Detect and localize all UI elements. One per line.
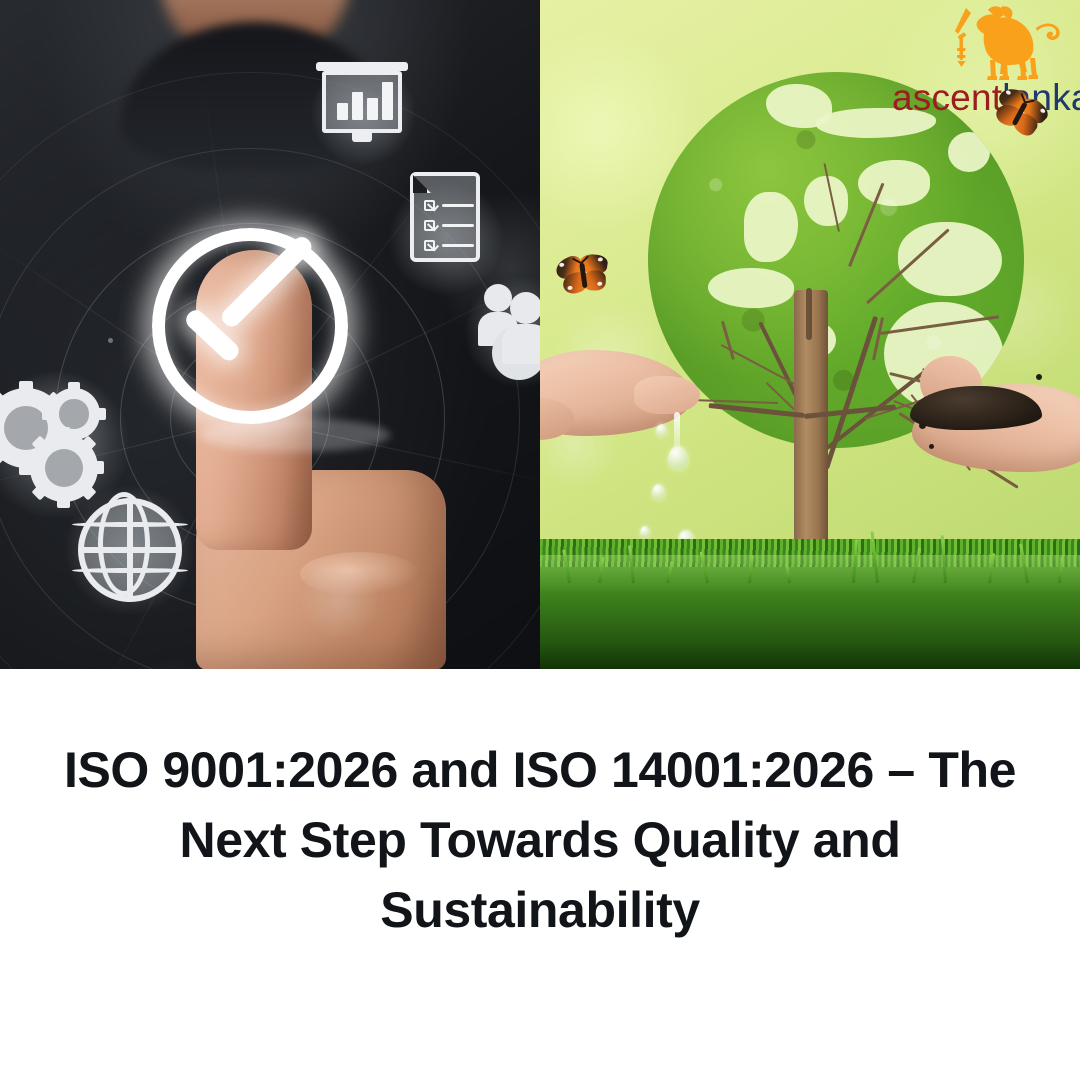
hero-image-pair: ascentlanka <box>0 0 1080 669</box>
globe-icon <box>78 498 182 602</box>
quality-approval-image <box>0 0 540 669</box>
watering-hand <box>540 334 714 460</box>
grass-strip <box>540 551 1080 669</box>
page-title: ISO 9001:2026 and ISO 14001:2026 – TheNe… <box>17 735 1063 945</box>
page-title-line: ISO 9001:2026 and ISO 14001:2026 – The <box>17 735 1063 805</box>
brand-logo[interactable]: ascentlanka <box>892 4 1078 120</box>
title-block: ISO 9001:2026 and ISO 14001:2026 – TheNe… <box>0 669 1080 1080</box>
gears-icon <box>0 382 116 502</box>
check-mark-icon <box>187 264 337 356</box>
presentation-chart-icon <box>316 62 408 148</box>
butterfly-left <box>553 250 613 301</box>
page-title-line: Sustainability <box>17 875 1063 945</box>
check-circle-icon <box>152 228 348 424</box>
sustainability-tree-image <box>540 0 1080 669</box>
checklist-document-icon <box>410 172 480 262</box>
soil-hand <box>892 356 1080 492</box>
brand-word-one: ascent <box>892 77 1002 118</box>
page-title-line: Next Step Towards Quality and <box>17 805 1063 875</box>
sri-lanka-lion-icon <box>944 4 1064 86</box>
people-gear-icon <box>476 280 540 376</box>
social-post-canvas: ascentlanka ISO 9001:2026 and ISO 14001:… <box>0 0 1080 1080</box>
